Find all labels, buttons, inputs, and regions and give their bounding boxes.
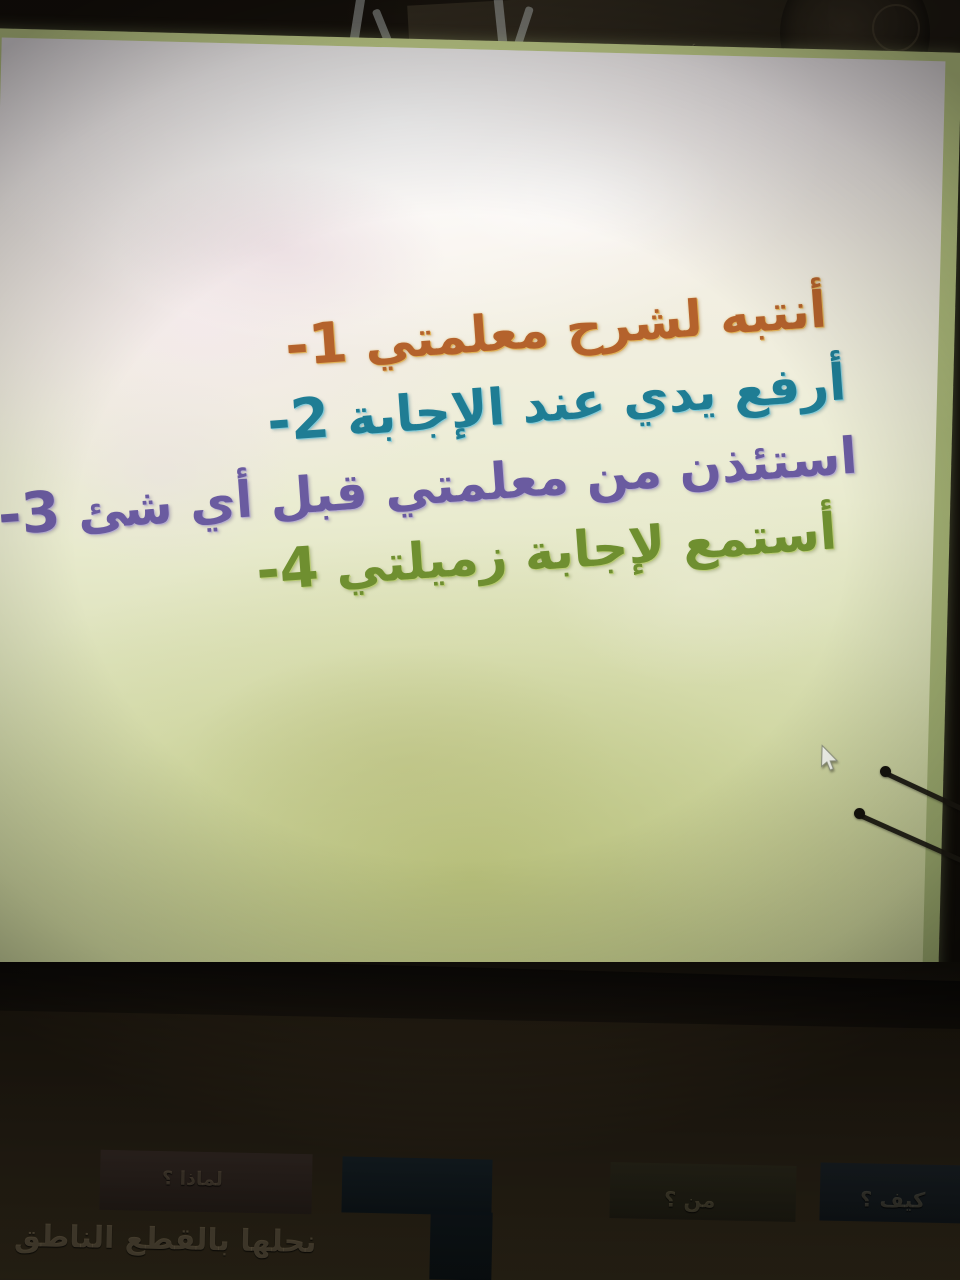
pointer-stick-tip	[880, 766, 891, 777]
slide-rule-number: 4-	[254, 535, 321, 604]
screen-blotch	[426, 108, 730, 266]
wall-poster-label: كيف ؟	[860, 1187, 926, 1212]
screen-blotch	[619, 753, 946, 972]
slide-rule-number: 2-	[265, 386, 332, 455]
wall-poster-label: لماذا ؟	[162, 1167, 223, 1190]
wall-poster-label: نحلها بالقطع الناطق	[14, 1219, 317, 1260]
wall-poster	[341, 1156, 492, 1215]
wall-poster-label: من ؟	[664, 1187, 716, 1212]
slide-rule-number: 3-	[0, 479, 62, 548]
screen-blotch	[190, 643, 616, 894]
projection-screen: أنتبه لشرح معلمتي 1- أرفع يدي عند الإجاب…	[0, 28, 960, 1010]
pointer-stick-tip	[854, 808, 865, 819]
slide-rule-number: 1-	[283, 310, 350, 379]
classroom-photo-scene: أتنقل داخل الصف أرفع عند الإ ت أنتبه لشر…	[0, 0, 960, 1280]
mouse-pointer-icon[interactable]	[819, 744, 842, 775]
wall-clock-dial	[872, 4, 920, 52]
wall-poster	[429, 1211, 492, 1280]
projected-slide: أنتبه لشرح معلمتي 1- أرفع يدي عند الإجاب…	[0, 37, 945, 999]
